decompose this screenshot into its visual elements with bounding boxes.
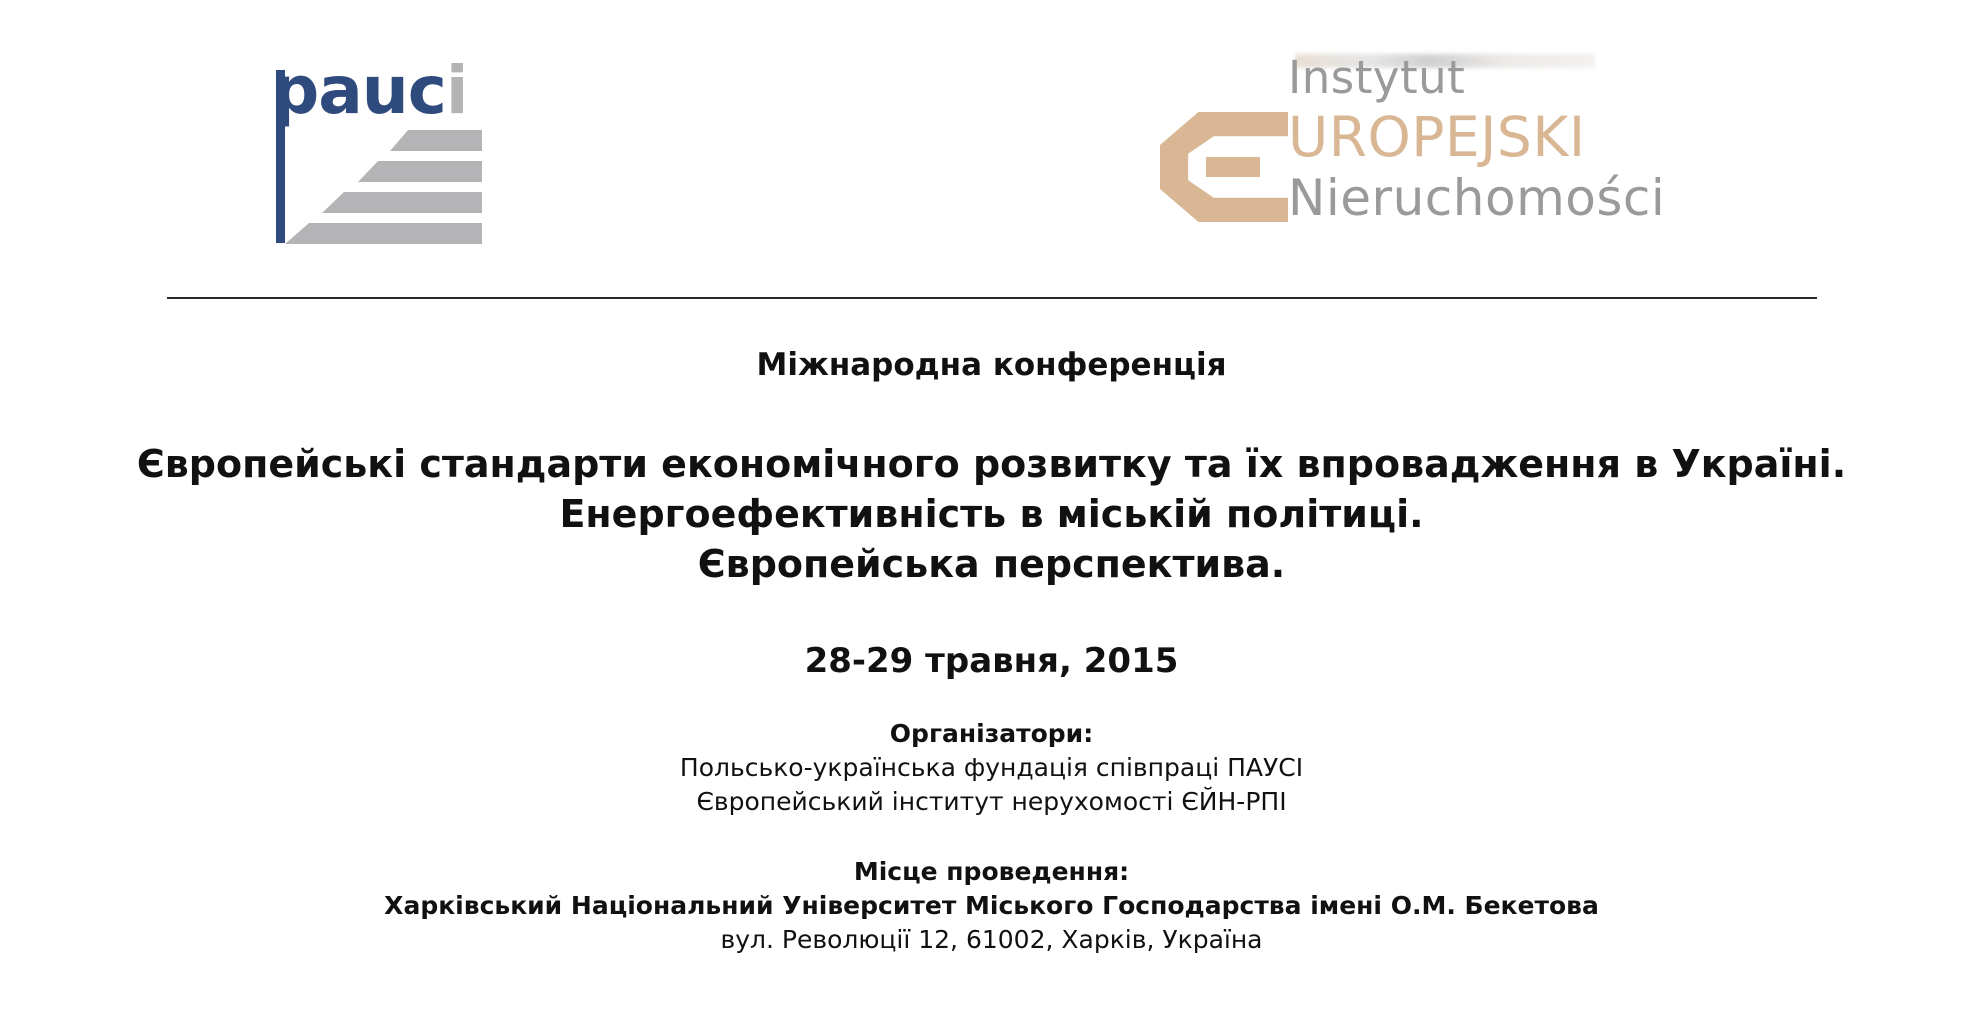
main-content: Міжнародна конференція Європейські станд…: [0, 318, 1983, 957]
event-kicker: Міжнародна конференція: [0, 343, 1983, 387]
venue-address: вул. Революції 12, 61002, Харків, Україн…: [0, 923, 1983, 957]
event-title-line-2: Енергоефективність в міській політиці.: [0, 489, 1983, 539]
pauci-logo: pauci: [272, 58, 482, 243]
pauci-wordmark-accent: i: [446, 52, 468, 129]
venue-section: Місце проведення: Харківський Національн…: [0, 855, 1983, 957]
event-title-line-1: Європейські стандарти економічного розви…: [0, 439, 1983, 489]
pauci-wordmark: pauci: [272, 58, 468, 124]
ien-line-uropejski: UROPEJSKI: [1288, 106, 1720, 168]
event-date: 28-29 травня, 2015: [0, 639, 1983, 683]
event-title-line-3: Європейська перспектива.: [0, 539, 1983, 589]
organizers-heading: Організатори:: [0, 717, 1983, 751]
ien-line-nieruchomosci: Nieruchomości: [1288, 168, 1720, 228]
organizers-section: Організатори: Польсько-українська фундац…: [0, 717, 1983, 819]
organizer-item: Європейський інститут нерухомості ЄЙН-РП…: [0, 785, 1983, 819]
conference-announcement-page: pauci Instytut UROPEJSKI Nieruchomości: [0, 0, 1983, 1015]
ien-wordmark: Instytut UROPEJSKI Nieruchomości: [1288, 50, 1720, 228]
pauci-staircase-icon: [272, 130, 482, 245]
ien-line-instytut: Instytut: [1288, 50, 1720, 106]
header-logo-band: pauci Instytut UROPEJSKI Nieruchomości: [0, 0, 1983, 300]
pauci-step-3: [322, 192, 482, 213]
octagonal-e-icon: [1160, 112, 1288, 222]
event-title: Європейські стандарти економічного розви…: [0, 439, 1983, 589]
pauci-step-2: [358, 161, 482, 182]
instytut-europejski-nieruchomosci-logo: Instytut UROPEJSKI Nieruchomości: [1160, 50, 1720, 250]
octagon-inner-bar: [1206, 157, 1260, 177]
venue-name: Харківський Національний Університет Міс…: [0, 889, 1983, 923]
organizer-item: Польсько-українська фундація співпраці П…: [0, 751, 1983, 785]
pauci-step-4: [285, 223, 482, 244]
header-divider-rule: [167, 297, 1817, 299]
venue-heading: Місце проведення:: [0, 855, 1983, 889]
pauci-wordmark-main: pauc: [272, 52, 446, 129]
pauci-step-1: [390, 130, 482, 151]
